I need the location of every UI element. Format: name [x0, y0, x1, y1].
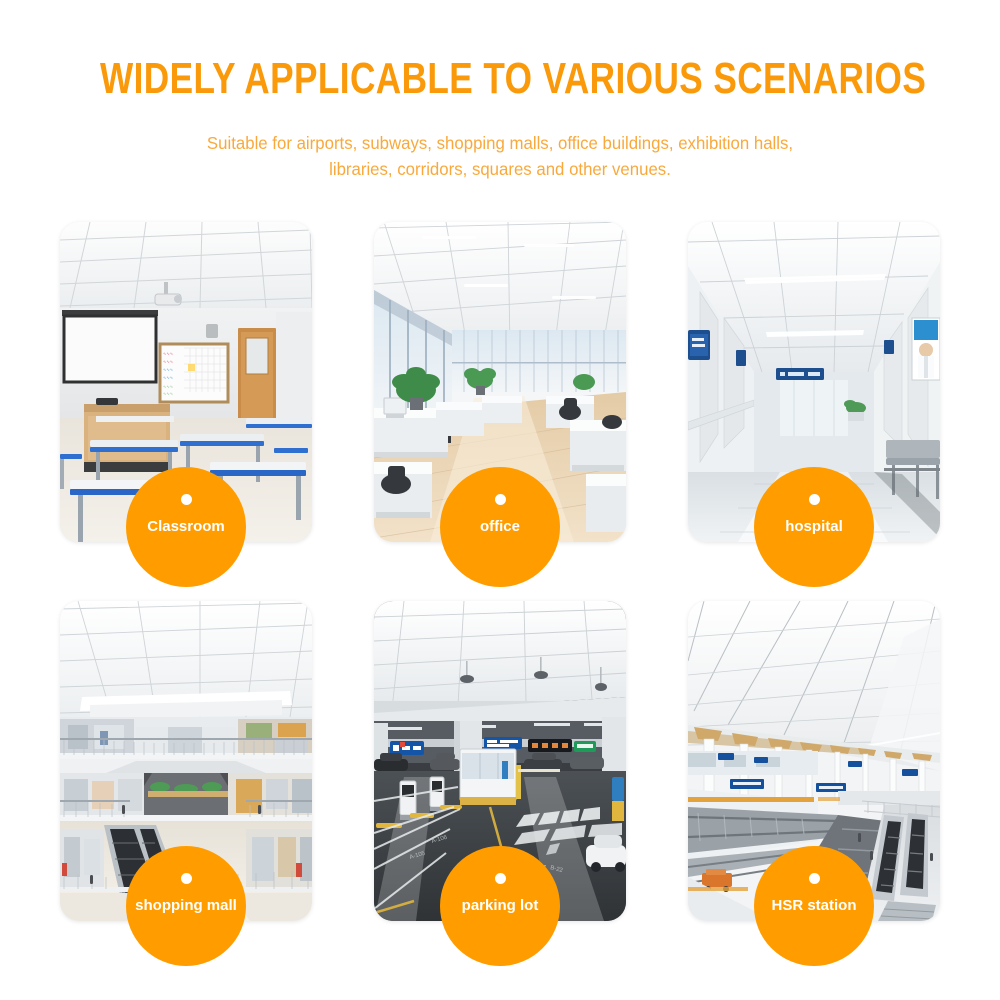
badge-label: HSR station	[771, 897, 856, 915]
page-title: WIDELY APPLICABLE TO VARIOUS SCENARIOS	[100, 54, 900, 104]
badge-label: hospital	[785, 518, 843, 536]
svg-text:∿∿∿: ∿∿∿	[163, 367, 173, 372]
page-subtitle: Suitable for airports, subways, shopping…	[20, 130, 980, 182]
svg-text:∿∿∿: ∿∿∿	[163, 359, 173, 364]
scenario-card-hsr-station[interactable]: HSR station	[688, 601, 940, 921]
badge-shopping-mall[interactable]: shopping mall	[126, 846, 246, 966]
badge-dot-icon	[181, 494, 192, 505]
scenario-row-2: shopping mall	[60, 601, 940, 921]
subtitle-line-2: libraries, corridors, squares and other …	[20, 156, 980, 182]
scenario-card-office[interactable]: office	[374, 222, 626, 542]
badge-hospital[interactable]: hospital	[754, 467, 874, 587]
badge-dot-icon	[809, 494, 820, 505]
badge-dot-icon	[809, 873, 820, 884]
badge-dot-icon	[495, 494, 506, 505]
badge-dot-icon	[495, 873, 506, 884]
scenario-grid: ∿∿∿∿∿∿ ∿∿∿∿∿∿ ∿∿∿∿∿∿	[60, 222, 940, 921]
svg-text:∿∿∿: ∿∿∿	[163, 391, 173, 396]
scenario-card-parking-lot[interactable]: A-105 A-106 B-22 parking lot	[374, 601, 626, 921]
badge-dot-icon	[181, 873, 192, 884]
badge-label: shopping mall	[135, 897, 237, 915]
badge-label: Classroom	[147, 518, 225, 536]
badge-office[interactable]: office	[440, 467, 560, 587]
svg-text:∿∿∿: ∿∿∿	[163, 375, 173, 380]
subtitle-line-1: Suitable for airports, subways, shopping…	[20, 130, 980, 156]
badge-parking-lot[interactable]: parking lot	[440, 846, 560, 966]
page-header: WIDELY APPLICABLE TO VARIOUS SCENARIOS S…	[0, 0, 1000, 182]
scenario-card-hospital[interactable]: hospital	[688, 222, 940, 542]
badge-label: parking lot	[462, 897, 539, 915]
scenario-row-1: ∿∿∿∿∿∿ ∿∿∿∿∿∿ ∿∿∿∿∿∿	[60, 222, 940, 542]
scenario-card-shopping-mall[interactable]: shopping mall	[60, 601, 312, 921]
badge-label: office	[480, 518, 520, 536]
scenario-showcase-page: WIDELY APPLICABLE TO VARIOUS SCENARIOS S…	[0, 0, 1000, 1000]
badge-classroom[interactable]: Classroom	[126, 467, 246, 587]
badge-hsr-station[interactable]: HSR station	[754, 846, 874, 966]
svg-text:∿∿∿: ∿∿∿	[163, 384, 173, 389]
scenario-card-classroom[interactable]: ∿∿∿∿∿∿ ∿∿∿∿∿∿ ∿∿∿∿∿∿	[60, 222, 312, 542]
svg-text:∿∿∿: ∿∿∿	[163, 351, 173, 356]
